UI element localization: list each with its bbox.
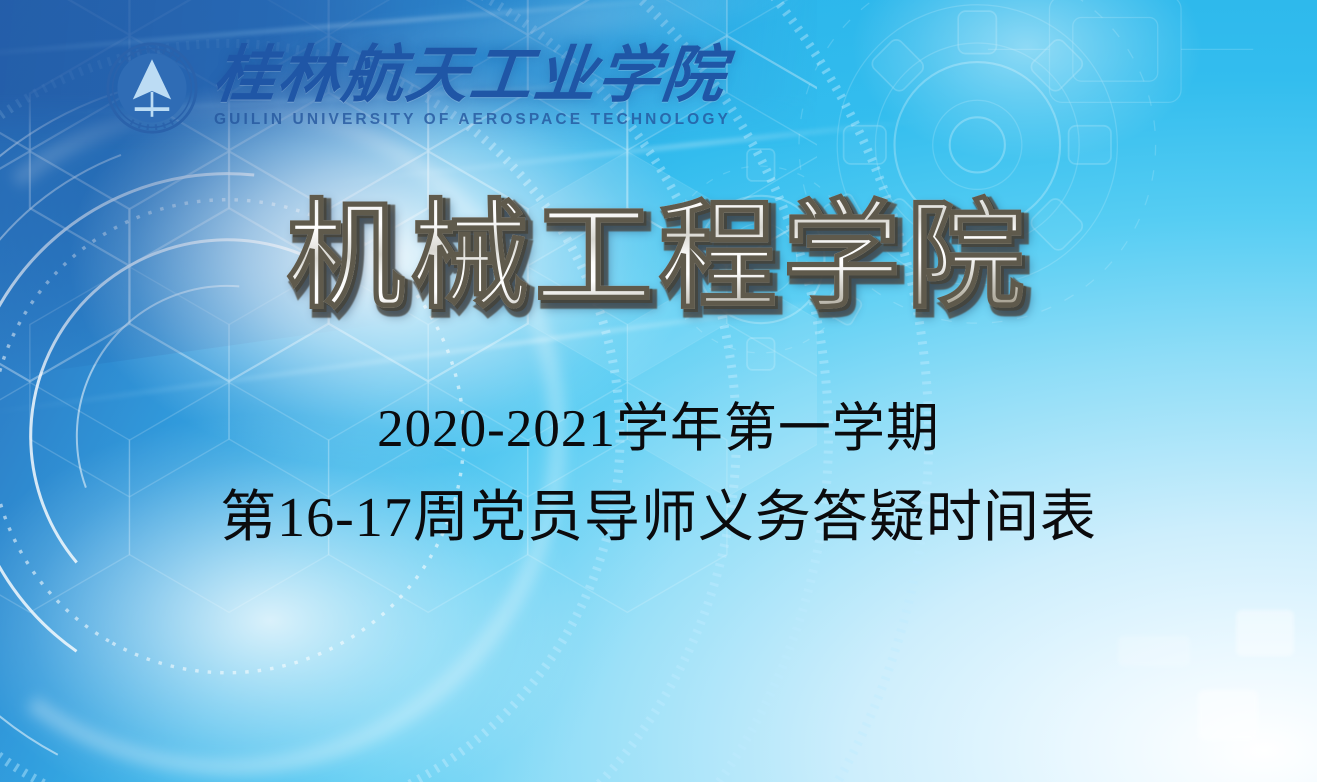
page-title: 机械工程学院 [0,186,1317,325]
logo-chinese-name: 桂林航天工业学院 [211,45,734,107]
subtitle-schedule-title: 第16-17周党员导师义务答疑时间表 [0,486,1317,550]
aerospace-emblem-icon [104,40,200,136]
logo-text: 桂林航天工业学院 GUILIN UNIVERSITY OF AEROSPACE … [214,45,731,131]
subtitle-academic-term: 2020-2021学年第一学期 [0,398,1317,460]
rounded-square-chips-icon [1236,610,1294,656]
rounded-square-chips-icon [1118,636,1190,666]
rounded-square-chips-icon [1198,690,1258,740]
presentation-slide: 桂林航天工业学院 GUILIN UNIVERSITY OF AEROSPACE … [0,0,1317,782]
subtitle-block: 2020-2021学年第一学期 第16-17周党员导师义务答疑时间表 [0,398,1317,550]
university-logo: 桂林航天工业学院 GUILIN UNIVERSITY OF AEROSPACE … [104,36,674,140]
background-bloom-top [790,0,1264,203]
logo-english-name: GUILIN UNIVERSITY OF AEROSPACE TECHNOLOG… [214,111,731,129]
